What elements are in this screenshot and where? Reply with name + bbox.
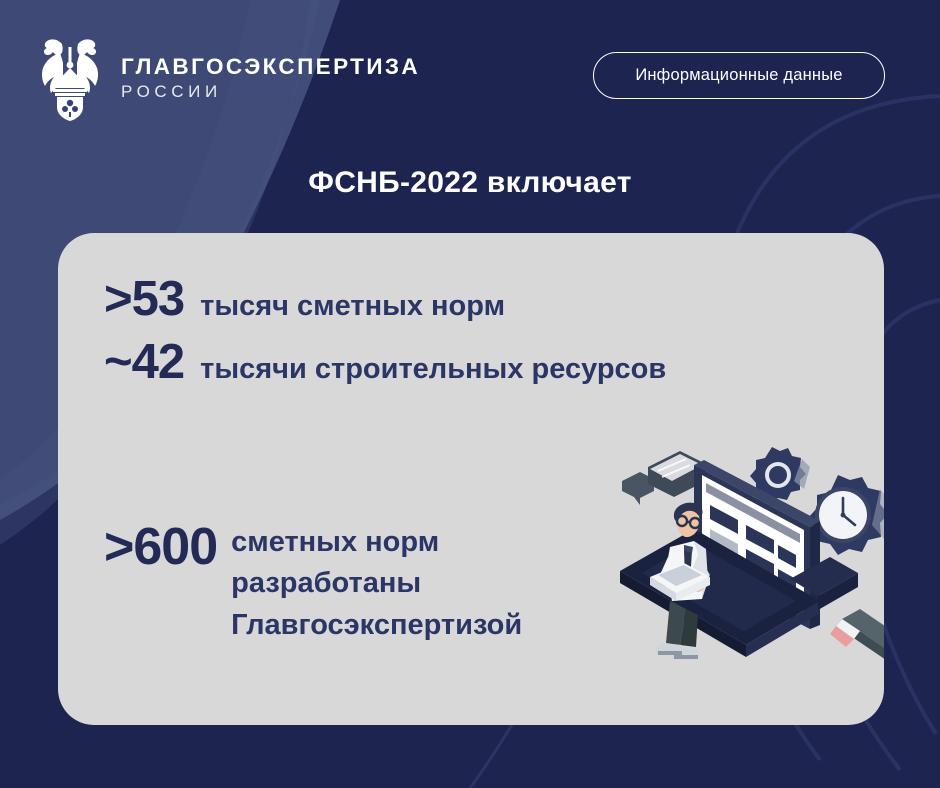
highlight-stat: >600 сметных норм разработаны Главгосэкс…: [78, 521, 522, 641]
stat-row: ~42 тысячи строительных ресурсов: [58, 338, 884, 387]
page-title: ФСНБ-2022 включает: [0, 166, 940, 200]
speech-bubble-icon: [622, 451, 706, 505]
information-badge-label: Информационные данные: [635, 66, 842, 85]
logo-line-2: РОССИИ: [121, 82, 420, 102]
highlight-lines: сметных норм разработаны Главгосэксперти…: [231, 521, 522, 641]
logo-text: ГЛАВГОСЭКСПЕРТИЗА РОССИИ: [121, 52, 420, 103]
double-headed-eagle-emblem-icon: [36, 33, 104, 121]
stats-list: >53 тысяч сметных норм ~42 тысячи строит…: [58, 233, 884, 387]
illustration-graphic: [614, 429, 884, 719]
stat-number: >53: [104, 275, 184, 324]
content-card: >53 тысяч сметных норм ~42 тысячи строит…: [58, 233, 884, 725]
infographic-poster: ГЛАВГОСЭКСПЕРТИЗА РОССИИ Информационные …: [0, 0, 940, 788]
logo: ГЛАВГОСЭКСПЕРТИЗА РОССИИ: [36, 33, 420, 121]
stat-number: ~42: [104, 338, 184, 387]
header: ГЛАВГОСЭКСПЕРТИЗА РОССИИ Информационные …: [0, 0, 940, 150]
highlight-number: >600: [78, 521, 217, 573]
stat-row: >53 тысяч сметных норм: [58, 275, 884, 324]
pencil-icon: [830, 609, 884, 660]
highlight-line: Главгосэкспертизой: [231, 610, 522, 641]
stat-label: тысяч сметных норм: [200, 292, 505, 321]
isometric-illustration: [614, 429, 884, 719]
highlight-line: сметных норм: [231, 527, 522, 558]
highlight-line: разработаны: [231, 568, 522, 599]
stat-label: тысячи строительных ресурсов: [200, 355, 666, 384]
logo-line-1: ГЛАВГОСЭКСПЕРТИЗА: [121, 54, 420, 79]
information-badge[interactable]: Информационные данные: [593, 52, 885, 99]
